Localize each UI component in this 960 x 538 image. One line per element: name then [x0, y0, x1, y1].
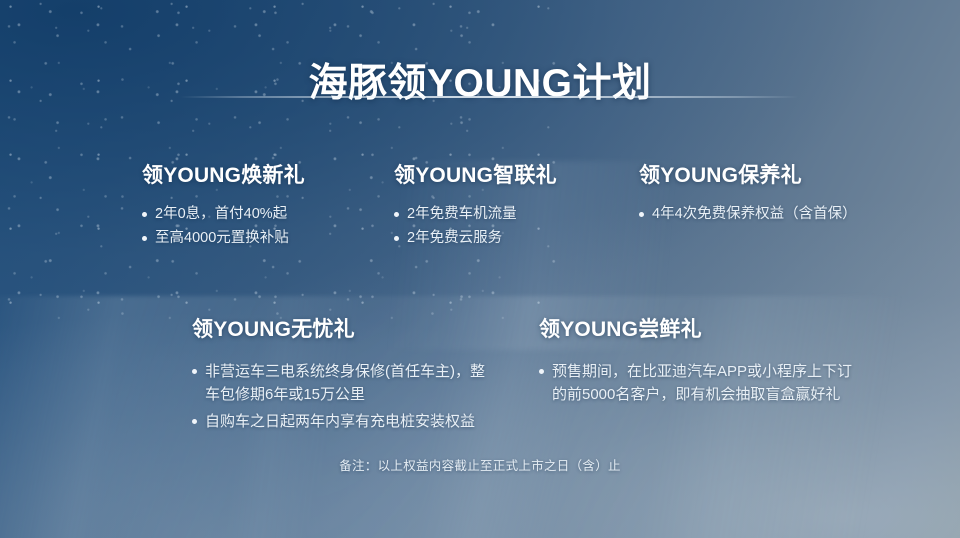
- list-item: 4年4次免费保养权益（含首保）: [639, 204, 869, 226]
- benefit-heading-huanxin: 领YOUNG焕新礼: [142, 163, 387, 188]
- bullet-text: 4年4次免费保养权益（含首保）: [652, 206, 857, 222]
- title-divider-rule: [180, 96, 798, 98]
- benefit-heading-baoyang: 领YOUNG保养礼: [639, 163, 869, 188]
- bullet-dot-icon: [539, 369, 544, 374]
- bullet-text: 2年0息，首付40%起: [155, 206, 287, 222]
- bullet-dot-icon: [394, 212, 399, 217]
- list-item: 2年免费车机流量: [394, 204, 632, 226]
- benefit-block-baoyang: 领YOUNG保养礼 4年4次免费保养权益（含首保）: [639, 163, 869, 228]
- benefit-bullet-list-wuyou: 非营运车三电系统终身保修(首任车主)，整车包修期6年或15万公里 自购车之日起两…: [192, 360, 492, 433]
- bullet-text: 自购车之日起两年内享有充电桩安装权益: [205, 413, 475, 430]
- benefit-block-zhilian: 领YOUNG智联礼 2年免费车机流量 2年免费云服务: [394, 163, 632, 252]
- bullet-dot-icon: [639, 212, 644, 217]
- bullet-dot-icon: [142, 236, 147, 241]
- bullet-text: 非营运车三电系统终身保修(首任车主)，整车包修期6年或15万公里: [205, 363, 485, 403]
- bullet-text: 预售期间，在比亚迪汽车APP或小程序上下订的前5000名客户，即有机会抽取盲盒赢…: [552, 363, 852, 403]
- presentation-slide: 海豚领YOUNG计划 领YOUNG焕新礼 2年0息，首付40%起 至高4000元…: [0, 0, 960, 538]
- benefit-block-huanxin: 领YOUNG焕新礼 2年0息，首付40%起 至高4000元置换补贴: [142, 163, 387, 252]
- benefit-heading-changxian: 领YOUNG尝鲜礼: [539, 317, 859, 342]
- benefit-block-changxian: 领YOUNG尝鲜礼 预售期间，在比亚迪汽车APP或小程序上下订的前5000名客户…: [539, 317, 859, 410]
- list-item: 至高4000元置换补贴: [142, 228, 387, 250]
- bullet-text: 2年免费云服务: [407, 230, 502, 246]
- benefit-heading-zhilian: 领YOUNG智联礼: [394, 163, 632, 188]
- bullet-dot-icon: [192, 369, 197, 374]
- bullet-text: 2年免费车机流量: [407, 206, 517, 222]
- bullet-text: 至高4000元置换补贴: [155, 230, 289, 246]
- list-item: 2年0息，首付40%起: [142, 204, 387, 226]
- bullet-dot-icon: [192, 419, 197, 424]
- list-item: 2年免费云服务: [394, 228, 632, 250]
- slide-title: 海豚领YOUNG计划: [0, 63, 960, 106]
- footer-disclaimer-note: 备注：以上权益内容截止至正式上市之日（含）止: [0, 455, 960, 474]
- list-item: 非营运车三电系统终身保修(首任车主)，整车包修期6年或15万公里: [192, 360, 492, 407]
- bullet-dot-icon: [394, 236, 399, 241]
- benefit-bullet-list-huanxin: 2年0息，首付40%起 至高4000元置换补贴: [142, 204, 387, 250]
- bullet-dot-icon: [142, 212, 147, 217]
- benefit-bullet-list-baoyang: 4年4次免费保养权益（含首保）: [639, 204, 869, 226]
- list-item: 预售期间，在比亚迪汽车APP或小程序上下订的前5000名客户，即有机会抽取盲盒赢…: [539, 360, 859, 407]
- list-item: 自购车之日起两年内享有充电桩安装权益: [192, 410, 492, 433]
- benefit-block-wuyou: 领YOUNG无忧礼 非营运车三电系统终身保修(首任车主)，整车包修期6年或15万…: [192, 317, 492, 436]
- benefit-heading-wuyou: 领YOUNG无忧礼: [192, 317, 492, 342]
- benefit-bullet-list-zhilian: 2年免费车机流量 2年免费云服务: [394, 204, 632, 250]
- benefit-bullet-list-changxian: 预售期间，在比亚迪汽车APP或小程序上下订的前5000名客户，即有机会抽取盲盒赢…: [539, 360, 859, 407]
